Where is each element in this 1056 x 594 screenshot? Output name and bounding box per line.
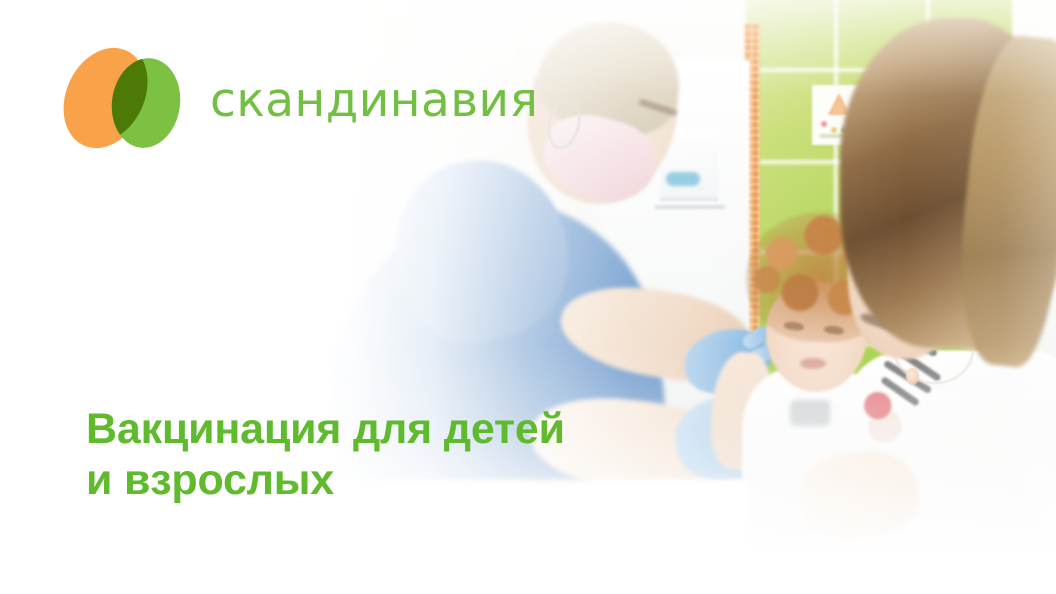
poster-triangle-inner-icon xyxy=(832,99,846,113)
child-mouth xyxy=(800,358,826,369)
poster-dot-yellow-icon xyxy=(831,127,837,133)
leaves-logo-icon xyxy=(64,44,188,156)
brand-wordmark: скандинавия xyxy=(210,77,538,124)
brand-logo[interactable]: скандинавия xyxy=(64,44,564,156)
banner-headline: Вакцинация для детей и взрослых xyxy=(86,404,706,506)
child-shirt-graphic xyxy=(790,400,830,426)
mother-necklace-pendant xyxy=(906,368,919,385)
vaccination-banner: скандинавия Вакцинация для детей и взрос… xyxy=(0,0,1056,594)
supply-box-label xyxy=(666,172,700,186)
cabinet-shelf-edge xyxy=(655,205,725,209)
poster-dot-red-icon xyxy=(821,121,827,127)
